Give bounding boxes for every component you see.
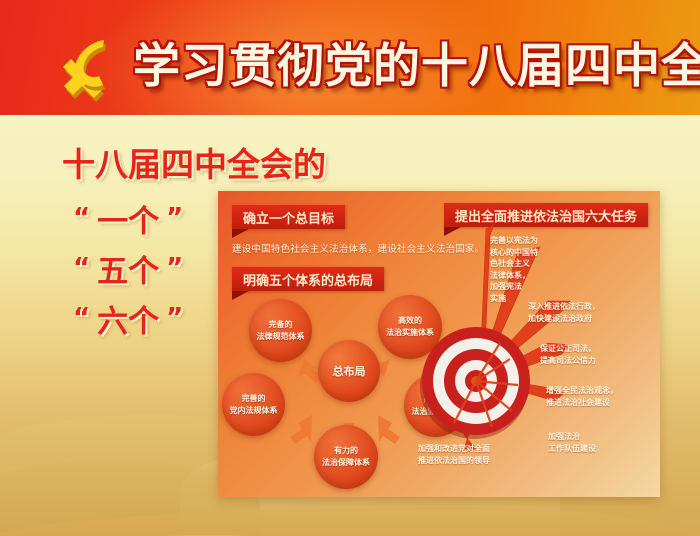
task-label-3: 保证公正司法， 提高司法公信力 [540, 343, 596, 366]
ribbon-tail [232, 291, 249, 300]
system-line-1: 完善的 [242, 393, 266, 405]
system-line-2: 党内法规体系 [230, 405, 278, 417]
system-bubble-1: 完备的 法律规范体系 [249, 299, 312, 362]
hammer-sickle-emblem-icon [46, 36, 132, 104]
quote-open: “ [66, 253, 97, 283]
keyword-text: 一个 [97, 204, 159, 240]
bullseye-target-icon [414, 319, 538, 443]
layout-center-label: 总布局 [333, 365, 366, 378]
ribbon-tasks: 提出全面推进依法治国六大任务 [444, 203, 648, 227]
system-line-2: 法律规范体系 [257, 331, 305, 343]
system-bubble-5: 完善的 党内法规体系 [222, 373, 285, 436]
ribbon-layout: 明确五个体系的总布局 [232, 267, 384, 291]
layout-center-bubble: 总布局 [318, 340, 380, 402]
keyword-text: 五个 [97, 254, 159, 290]
quote-open: “ [66, 203, 97, 233]
ribbon-goal: 确立一个总目标 [232, 205, 345, 229]
infographic-panel: 确立一个总目标 建设中国特色社会主义法治体系，建设社会主义法治国家。 明确五个体… [218, 191, 660, 497]
ribbon-goal-label: 确立一个总目标 [232, 205, 345, 229]
poster-root: 学习贯彻党的十八届四中全会精神 十八届四中全会的 “一个” “五个” “六个” … [0, 0, 700, 536]
system-line-1: 完备的 [269, 319, 293, 331]
banner-title: 学习贯彻党的十八届四中全会精神 [133, 34, 700, 100]
ribbon-layout-label: 明确五个体系的总布局 [232, 267, 384, 291]
system-bubble-4: 有力的 法治保障体系 [314, 425, 378, 489]
keyword-item-2: “五个” [66, 246, 190, 291]
keyword-text: 六个 [97, 304, 159, 340]
ribbon-tasks-label: 提出全面推进依法治国六大任务 [444, 203, 648, 227]
keyword-item-3: “六个” [66, 296, 190, 341]
system-line-1: 有力的 [334, 445, 358, 457]
ribbon-tail [444, 227, 461, 236]
task-label-4: 增强全民法治观念， 推进法治社会建设 [546, 385, 618, 408]
quote-open: “ [66, 303, 97, 333]
goal-description: 建设中国特色社会主义法治体系，建设社会主义法治国家。 [232, 241, 484, 255]
task-label-2: 深入推进依法行政， 加快建设法治政府 [528, 301, 600, 324]
ribbon-tail [232, 229, 249, 238]
quote-close: ” [159, 253, 190, 283]
quote-close: ” [159, 303, 190, 333]
keyword-item-1: “一个” [66, 196, 190, 241]
header-banner: 学习贯彻党的十八届四中全会精神 [0, 0, 700, 115]
page-headline: 十八届四中全会的 [62, 138, 326, 186]
task-label-1: 完善以宪法为 核心的中国特 色社会主义 法律体系， 加强宪法 实施 [490, 235, 538, 304]
quote-close: ” [159, 203, 190, 233]
system-line-2: 法治保障体系 [322, 457, 370, 469]
task-label-6: 加强和改进党对全面 推进依法治国的领导 [418, 443, 490, 466]
task-label-5: 加强法治 工作队伍建设 [548, 431, 596, 454]
